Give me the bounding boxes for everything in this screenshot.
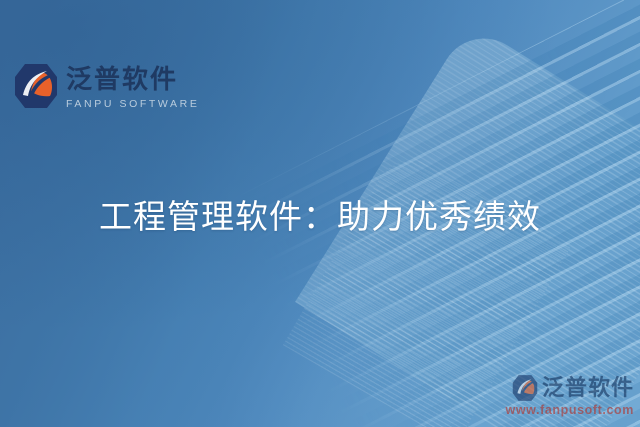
site-watermark: 泛普软件 www.fanpusoft.com [494, 374, 634, 418]
watermark-logo-mark-icon [512, 374, 538, 402]
watermark-logo-row: 泛普软件 [494, 374, 634, 402]
brand-name-cn: 泛普软件 [66, 64, 199, 94]
brand-name-en: FANPU SOFTWARE [66, 97, 199, 112]
brand-logo-text: 泛普软件 FANPU SOFTWARE [66, 62, 199, 112]
brand-logo: 泛普软件 FANPU SOFTWARE [14, 62, 199, 112]
watermark-url: www.fanpusoft.com [494, 403, 634, 418]
headline-title: 工程管理软件：助力优秀绩效 [0, 196, 640, 238]
fanpu-logo-mark-icon [14, 62, 58, 110]
marketing-banner: 泛普软件 FANPU SOFTWARE 工程管理软件：助力优秀绩效 泛普软件 w… [0, 0, 640, 427]
watermark-name-cn: 泛普软件 [542, 375, 634, 401]
